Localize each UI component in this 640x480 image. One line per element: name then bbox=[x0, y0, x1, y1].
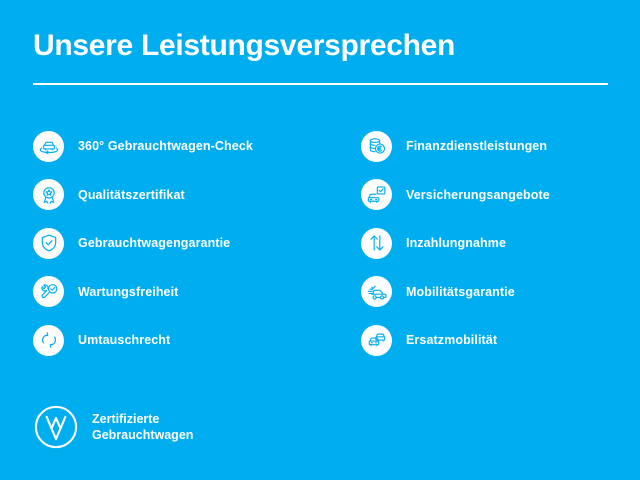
shield-check-icon bbox=[33, 228, 64, 259]
promise-item-ersatzmobilitaet: Ersatzmobilität bbox=[361, 316, 613, 365]
brand-line-2: Gebrauchtwagen bbox=[92, 427, 193, 443]
promise-item-qualitaetszertifikat: Qualitätszertifikat bbox=[33, 171, 361, 220]
promise-item-inzahlungnahme: Inzahlungnahme bbox=[361, 219, 613, 268]
header: Unsere Leistungsversprechen bbox=[33, 28, 608, 85]
promises-columns: 360° Gebrauchtwagen-Check Qualitätszerti… bbox=[33, 122, 613, 365]
brand-line-1: Zertifizierte bbox=[92, 411, 193, 427]
header-divider bbox=[33, 83, 608, 85]
promise-label: Inzahlungnahme bbox=[406, 236, 506, 250]
promise-label: Ersatzmobilität bbox=[406, 333, 497, 347]
promise-label: Versicherungsangebote bbox=[406, 188, 550, 202]
volkswagen-logo bbox=[33, 404, 79, 450]
promise-label: Qualitätszertifikat bbox=[78, 188, 185, 202]
promise-item-mobilitaetsgarantie: Mobilitätsgarantie bbox=[361, 268, 613, 317]
promise-item-wartungsfreiheit: Wartungsfreiheit bbox=[33, 268, 361, 317]
wrench-check-icon bbox=[33, 276, 64, 307]
promise-item-gebrauchtwagengarantie: Gebrauchtwagengarantie bbox=[33, 219, 361, 268]
promise-label: Gebrauchtwagengarantie bbox=[78, 236, 230, 250]
brand-footer: Zertifizierte Gebrauchtwagen bbox=[33, 404, 193, 450]
award-rosette-icon bbox=[33, 179, 64, 210]
promise-item-umtauschrecht: Umtauschrecht bbox=[33, 316, 361, 365]
promise-label: Umtauschrecht bbox=[78, 333, 170, 347]
promises-left-column: 360° Gebrauchtwagen-Check Qualitätszerti… bbox=[33, 122, 361, 365]
two-cars-icon bbox=[361, 325, 392, 356]
promise-label: Mobilitätsgarantie bbox=[406, 285, 515, 299]
promise-item-versicherungsangebote: Versicherungsangebote bbox=[361, 171, 613, 220]
promise-item-finanzdienstleistungen: Finanzdienstleistungen bbox=[361, 122, 613, 171]
promises-poster: Unsere Leistungsversprechen 360° Gebrauc… bbox=[0, 0, 640, 480]
promise-item-gebrauchtwagen-check: 360° Gebrauchtwagen-Check bbox=[33, 122, 361, 171]
promise-label: Finanzdienstleistungen bbox=[406, 139, 547, 153]
arrows-up-down-icon bbox=[361, 228, 392, 259]
brand-text: Zertifizierte Gebrauchtwagen bbox=[92, 411, 193, 443]
page-title: Unsere Leistungsversprechen bbox=[33, 28, 608, 64]
promise-label: Wartungsfreiheit bbox=[78, 285, 178, 299]
car-360-check-icon bbox=[33, 131, 64, 162]
coins-euro-icon bbox=[361, 131, 392, 162]
exchange-arrows-icon bbox=[33, 325, 64, 356]
promise-label: 360° Gebrauchtwagen-Check bbox=[78, 139, 253, 153]
car-side-check-icon bbox=[361, 276, 392, 307]
car-document-check-icon bbox=[361, 179, 392, 210]
promises-right-column: Finanzdienstleistungen Versicherungsange… bbox=[361, 122, 613, 365]
